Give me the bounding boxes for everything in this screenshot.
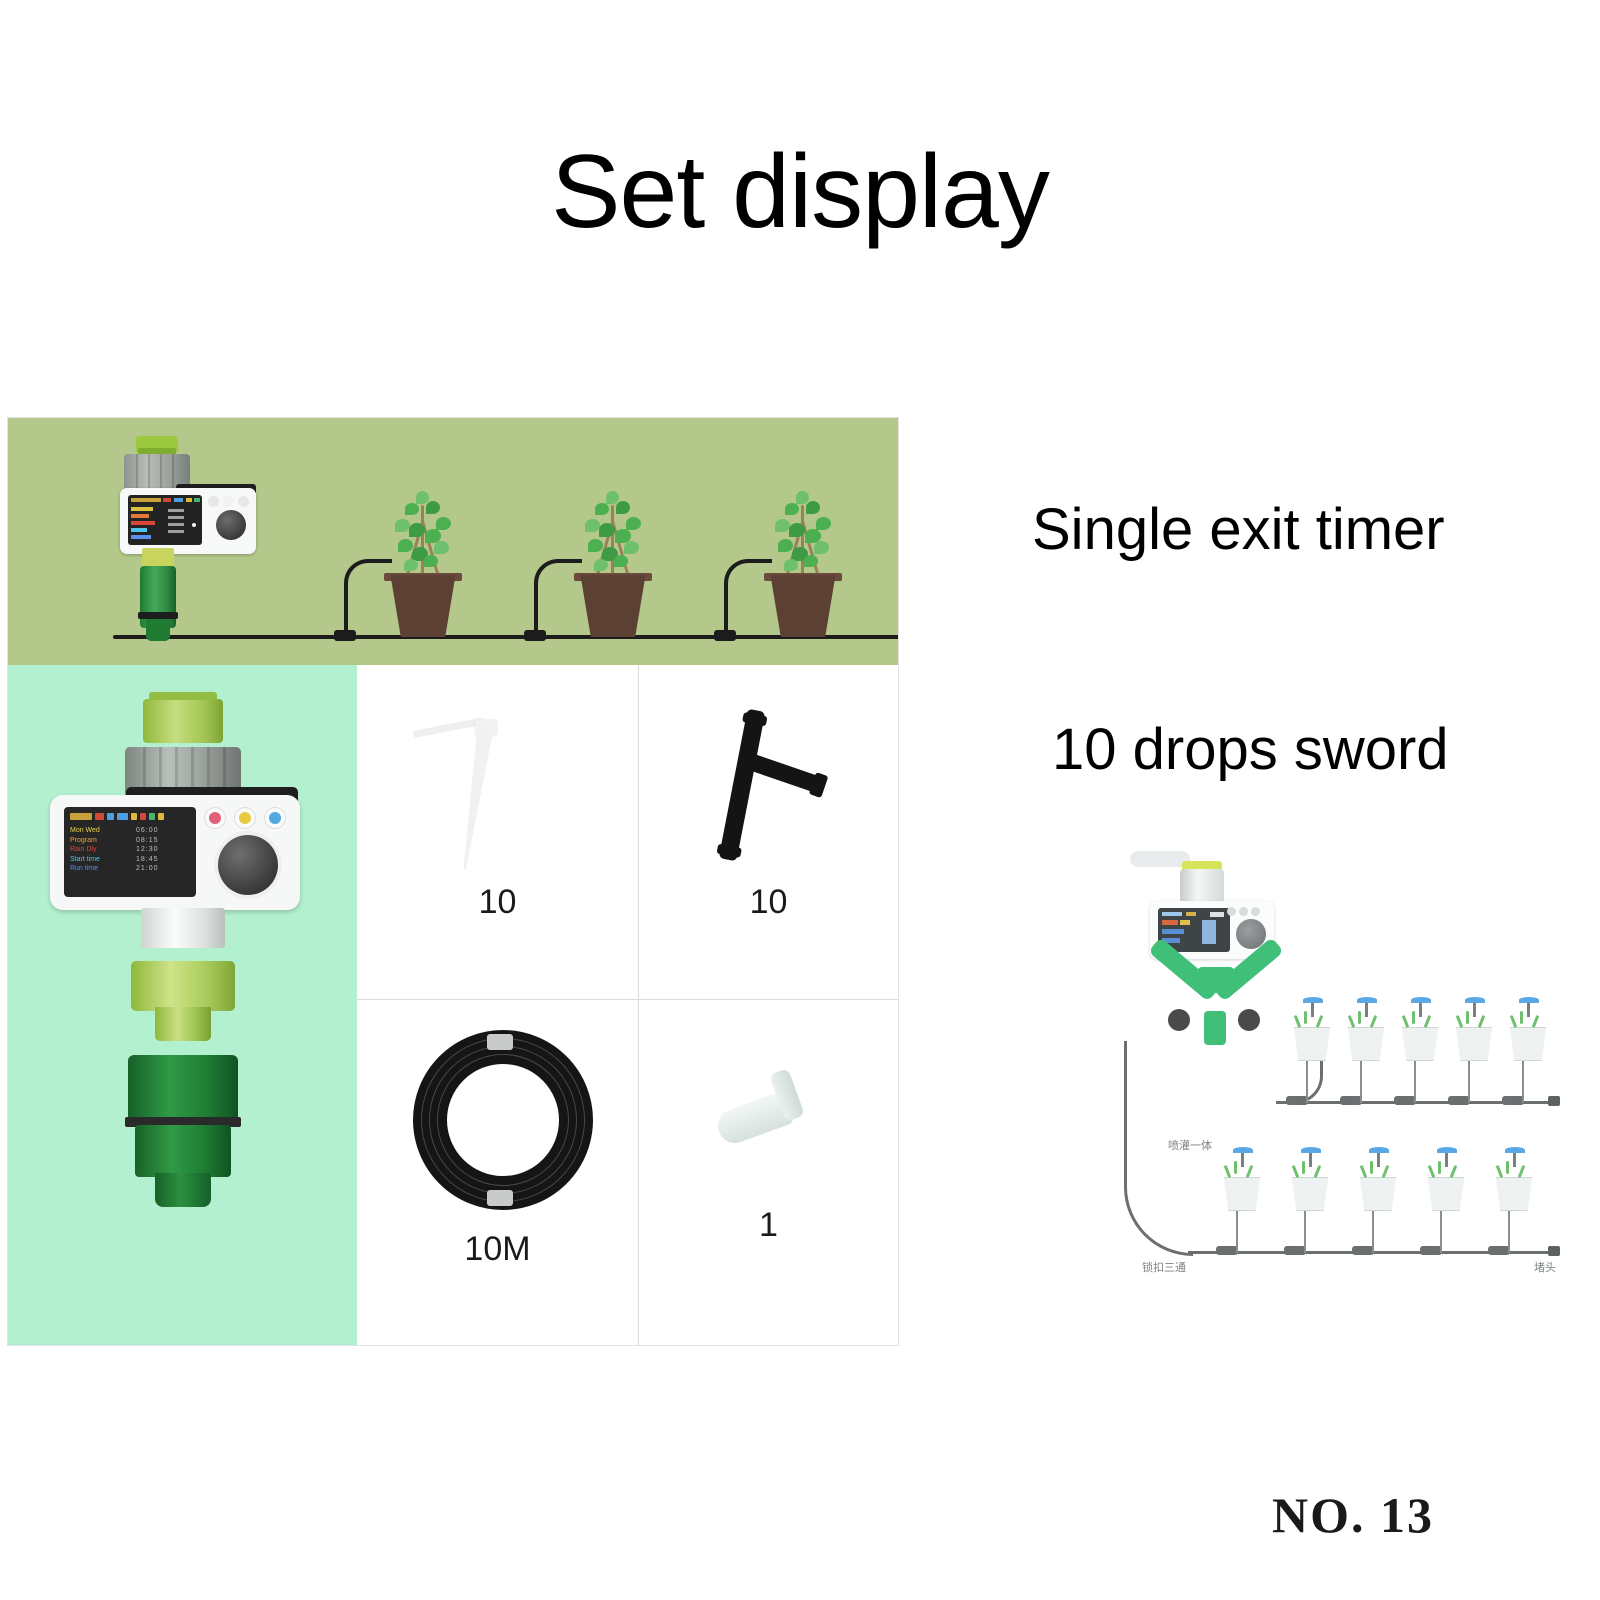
end-plug-label: 堵头 bbox=[1534, 1259, 1556, 1275]
irrigation-scene-illustration bbox=[8, 418, 898, 665]
component-qty: 1 bbox=[639, 1206, 898, 1245]
diagram-ok-button[interactable] bbox=[1251, 907, 1260, 916]
line-tee-fitting bbox=[524, 630, 546, 641]
hose-connector-tip bbox=[155, 1173, 211, 1207]
spray-integrated-label: 喷灌一体 bbox=[1168, 1137, 1212, 1153]
line-connector bbox=[1352, 1246, 1374, 1255]
line-connector bbox=[1420, 1246, 1442, 1255]
quick-connector-part bbox=[131, 961, 235, 1011]
diagram-sprayer bbox=[1303, 997, 1323, 1003]
lcd-row-value: 12:30 bbox=[136, 845, 190, 855]
lcd-value-column: 06:00 08:15 12:30 18:45 21:00 bbox=[132, 826, 190, 874]
component-cell-tee-connector: 10 bbox=[639, 665, 898, 1000]
diagram-sprayer bbox=[1437, 1147, 1457, 1153]
plant-pot bbox=[386, 575, 460, 637]
y-splitter bbox=[1142, 967, 1292, 1045]
plant-drip-tube bbox=[724, 559, 772, 637]
timer-lcd-screen: Mon Wed Program Rain Dly Start time Run … bbox=[64, 807, 196, 897]
diagram-sprayer bbox=[1465, 997, 1485, 1003]
timer-exploded-view: Mon Wed Program Rain Dly Start time Run … bbox=[8, 665, 357, 1345]
scene-timer-dial[interactable] bbox=[216, 510, 246, 540]
product-composite-panel: Mon Wed Program Rain Dly Start time Run … bbox=[8, 418, 898, 1345]
diagram-sprayer bbox=[1369, 1147, 1389, 1153]
diagram-pot bbox=[1426, 1177, 1466, 1211]
scene-timer-lcd-screen bbox=[128, 495, 202, 545]
line-connector bbox=[1216, 1246, 1238, 1255]
scene-water-timer bbox=[116, 436, 202, 646]
diagram-pot bbox=[1494, 1177, 1534, 1211]
lcd-row-value: 18:45 bbox=[136, 855, 190, 865]
diagram-pot bbox=[1400, 1027, 1440, 1061]
diagram-timer-neck bbox=[1180, 869, 1224, 903]
drip-hose-coil-icon bbox=[413, 1030, 593, 1210]
component-cell-drip-stake: 10 bbox=[357, 665, 639, 1000]
lcd-row-value: 21:00 bbox=[136, 864, 190, 874]
line-connector bbox=[1448, 1096, 1470, 1105]
outlet-thread-part bbox=[141, 908, 225, 948]
diagram-sprayer bbox=[1233, 1147, 1253, 1153]
plant-foliage bbox=[772, 491, 834, 579]
scene-hose-ring bbox=[138, 612, 178, 619]
main-drip-line bbox=[113, 635, 898, 639]
plant-pot bbox=[766, 575, 840, 637]
inlet-adapter-part bbox=[143, 699, 223, 743]
component-qty: 10 bbox=[639, 883, 898, 922]
lcd-row-value: 06:00 bbox=[136, 826, 190, 836]
hose-connector-part bbox=[128, 1055, 238, 1123]
line-connector bbox=[1340, 1096, 1362, 1105]
timer-body-part: Mon Wed Program Rain Dly Start time Run … bbox=[50, 795, 300, 910]
line-connector bbox=[1488, 1246, 1510, 1255]
lower-end-plug bbox=[1548, 1246, 1560, 1256]
dripper-count-label: 10 drops sword bbox=[1052, 716, 1449, 783]
irrigation-system-diagram: 喷灌一体 锁扣三通 堵头 bbox=[1090, 845, 1560, 1285]
diagram-mode-button[interactable] bbox=[1227, 907, 1236, 916]
timer-control-panel bbox=[204, 805, 290, 899]
component-cell-hose-coil: 10M bbox=[357, 1000, 639, 1345]
diagram-set-button[interactable] bbox=[1239, 907, 1248, 916]
splitter-left-valve[interactable] bbox=[1168, 1009, 1190, 1031]
tee-fitting-label: 锁扣三通 bbox=[1142, 1259, 1186, 1275]
plant-drip-tube bbox=[344, 559, 392, 637]
hose-connector-lower bbox=[135, 1125, 231, 1177]
diagram-pot bbox=[1290, 1177, 1330, 1211]
timer-type-label: Single exit timer bbox=[1032, 496, 1445, 563]
scene-ok-button[interactable] bbox=[238, 496, 249, 507]
page-title: Set display bbox=[0, 140, 1600, 244]
product-display-page: Set display bbox=[0, 0, 1600, 1600]
lcd-label-column: Mon Wed Program Rain Dly Start time Run … bbox=[70, 826, 132, 874]
mode-button[interactable] bbox=[204, 807, 226, 829]
barbed-tee-connector-icon bbox=[699, 703, 839, 883]
scene-timer-body bbox=[120, 488, 256, 554]
splitter-right-valve[interactable] bbox=[1238, 1009, 1260, 1031]
diagram-sprayer bbox=[1301, 1147, 1321, 1153]
lcd-status-bar bbox=[70, 812, 190, 821]
upper-end-plug bbox=[1548, 1096, 1560, 1106]
timer-rotary-dial[interactable] bbox=[218, 835, 278, 895]
splitter-outlet-stub bbox=[1204, 1011, 1226, 1045]
set-button[interactable] bbox=[234, 807, 256, 829]
diagram-pot bbox=[1508, 1027, 1548, 1061]
lcd-row-label: Rain Dly bbox=[70, 845, 132, 855]
component-cell-end-plug: 1 bbox=[639, 1000, 898, 1345]
scene-set-button[interactable] bbox=[223, 496, 234, 507]
diagram-pot bbox=[1358, 1177, 1398, 1211]
scene-timer-controls bbox=[208, 494, 252, 548]
component-qty: 10 bbox=[357, 883, 638, 922]
plant-drip-tube bbox=[534, 559, 582, 637]
diagram-pot bbox=[1292, 1027, 1332, 1061]
plant-pot bbox=[576, 575, 650, 637]
diagram-sprayer bbox=[1505, 1147, 1525, 1153]
drip-arrow-stake-icon bbox=[413, 709, 553, 879]
ok-button[interactable] bbox=[264, 807, 286, 829]
end-plug-icon bbox=[711, 1060, 841, 1170]
lcd-row-value: 08:15 bbox=[136, 836, 190, 846]
lcd-row-label: Program bbox=[70, 836, 132, 846]
lcd-row-label: Run time bbox=[70, 864, 132, 874]
catalog-number: NO. 13 bbox=[1272, 1486, 1434, 1544]
component-qty: 10M bbox=[357, 1230, 638, 1269]
plant-foliage bbox=[582, 491, 644, 579]
line-connector bbox=[1394, 1096, 1416, 1105]
diagram-sprayer bbox=[1411, 997, 1431, 1003]
diagram-sprayer bbox=[1357, 997, 1377, 1003]
line-tee-fitting bbox=[334, 630, 356, 641]
diagram-pot bbox=[1222, 1177, 1262, 1211]
diagram-pot bbox=[1346, 1027, 1386, 1061]
scene-mode-button[interactable] bbox=[208, 496, 219, 507]
diagram-pot bbox=[1454, 1027, 1494, 1061]
line-connector bbox=[1284, 1246, 1306, 1255]
diagram-sprayer bbox=[1519, 997, 1539, 1003]
quick-connector-tip bbox=[155, 1007, 211, 1041]
scene-hose-tip bbox=[146, 619, 170, 641]
lcd-row-label: Start time bbox=[70, 855, 132, 865]
plant-foliage bbox=[392, 491, 454, 579]
lcd-row-label: Mon Wed bbox=[70, 826, 132, 836]
line-connector bbox=[1502, 1096, 1524, 1105]
line-tee-fitting bbox=[714, 630, 736, 641]
line-connector bbox=[1286, 1096, 1308, 1105]
